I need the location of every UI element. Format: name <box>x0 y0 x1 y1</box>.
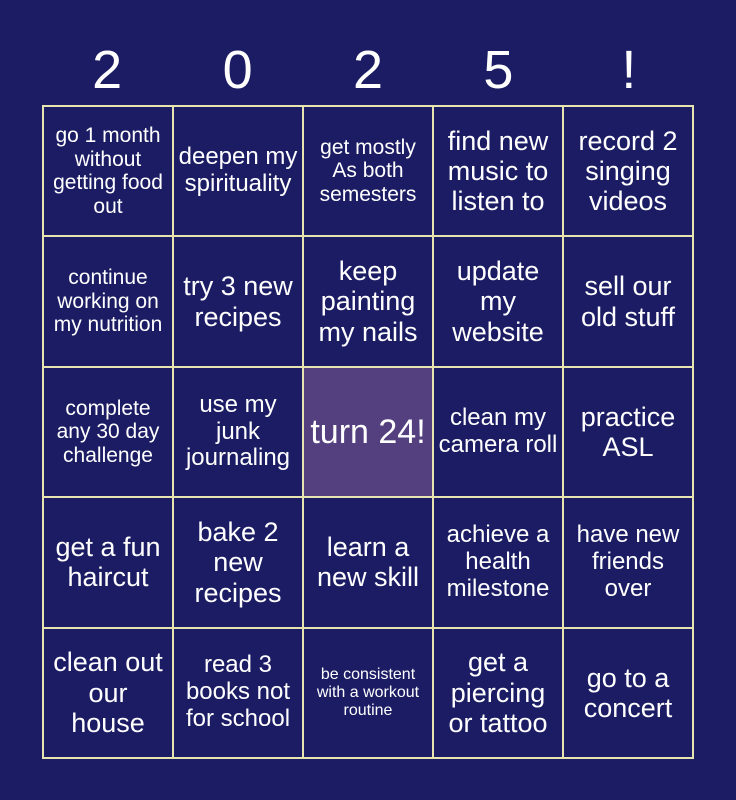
bingo-header-letter: ! <box>564 38 694 102</box>
bingo-cell-label: be consistent with a workout routine <box>308 666 428 720</box>
bingo-cell[interactable]: get a piercing or tattoo <box>434 629 564 759</box>
bingo-cell-label: try 3 new recipes <box>178 271 298 331</box>
bingo-cell[interactable]: keep painting my nails <box>304 237 434 367</box>
bingo-cell[interactable]: learn a new skill <box>304 498 434 628</box>
bingo-cell[interactable]: read 3 books not for school <box>174 629 304 759</box>
bingo-header-letter: 5 <box>433 38 563 102</box>
bingo-cell[interactable]: use my junk journaling <box>174 368 304 498</box>
bingo-cell[interactable]: achieve a health milestone <box>434 498 564 628</box>
bingo-cell-label: practice ASL <box>568 402 688 462</box>
bingo-cell-label: go to a concert <box>568 663 688 723</box>
bingo-cell[interactable]: try 3 new recipes <box>174 237 304 367</box>
bingo-cell-label: continue working on my nutrition <box>48 266 168 337</box>
bingo-cell[interactable]: sell our old stuff <box>564 237 694 367</box>
bingo-card: 2025! go 1 month without getting food ou… <box>0 0 736 800</box>
bingo-cell[interactable]: practice ASL <box>564 368 694 498</box>
bingo-cell[interactable]: bake 2 new recipes <box>174 498 304 628</box>
bingo-cell-label: clean my camera roll <box>438 405 558 459</box>
bingo-cell-label: learn a new skill <box>308 532 428 592</box>
bingo-cell-label: deepen my spirituality <box>178 144 298 198</box>
bingo-cell[interactable]: record 2 singing videos <box>564 107 694 237</box>
bingo-cell-label: bake 2 new recipes <box>178 517 298 608</box>
bingo-cell-label: clean out our house <box>48 647 168 738</box>
bingo-cell-label: record 2 singing videos <box>568 126 688 217</box>
bingo-cell-label: keep painting my nails <box>308 256 428 347</box>
bingo-cell-label: use my junk journaling <box>178 392 298 473</box>
bingo-cell-label: sell our old stuff <box>568 271 688 331</box>
bingo-cell-label: achieve a health milestone <box>438 522 558 603</box>
bingo-cell[interactable]: get mostly As both semesters <box>304 107 434 237</box>
bingo-cell-label: go 1 month without getting food out <box>48 124 168 218</box>
bingo-cell[interactable]: deepen my spirituality <box>174 107 304 237</box>
bingo-cell-label: read 3 books not for school <box>178 652 298 733</box>
bingo-cell[interactable]: go 1 month without getting food out <box>44 107 174 237</box>
bingo-cell[interactable]: clean my camera roll <box>434 368 564 498</box>
bingo-header-letter: 2 <box>303 38 433 102</box>
bingo-header-letter: 2 <box>42 38 172 102</box>
bingo-header-letter: 0 <box>172 38 302 102</box>
bingo-cell[interactable]: be consistent with a workout routine <box>304 629 434 759</box>
bingo-cell[interactable]: get a fun haircut <box>44 498 174 628</box>
bingo-cell-label: get a fun haircut <box>48 532 168 592</box>
bingo-cell-label: update my website <box>438 256 558 347</box>
bingo-cell-label: complete any 30 day challenge <box>48 397 168 468</box>
bingo-cell[interactable]: clean out our house <box>44 629 174 759</box>
bingo-cell-label: get a piercing or tattoo <box>438 647 558 738</box>
bingo-cell[interactable]: have new friends over <box>564 498 694 628</box>
bingo-cell[interactable]: continue working on my nutrition <box>44 237 174 367</box>
bingo-cell-label: find new music to listen to <box>438 126 558 217</box>
bingo-cell[interactable]: update my website <box>434 237 564 367</box>
bingo-grid: go 1 month without getting food outdeepe… <box>42 105 694 759</box>
bingo-cell[interactable]: complete any 30 day challenge <box>44 368 174 498</box>
bingo-cell-label: turn 24! <box>308 413 428 451</box>
bingo-cell[interactable]: go to a concert <box>564 629 694 759</box>
bingo-header: 2025! <box>42 38 694 102</box>
bingo-cell-marked[interactable]: turn 24! <box>304 368 434 498</box>
bingo-cell-label: get mostly As both semesters <box>308 136 428 207</box>
bingo-cell[interactable]: find new music to listen to <box>434 107 564 237</box>
bingo-cell-label: have new friends over <box>568 522 688 603</box>
